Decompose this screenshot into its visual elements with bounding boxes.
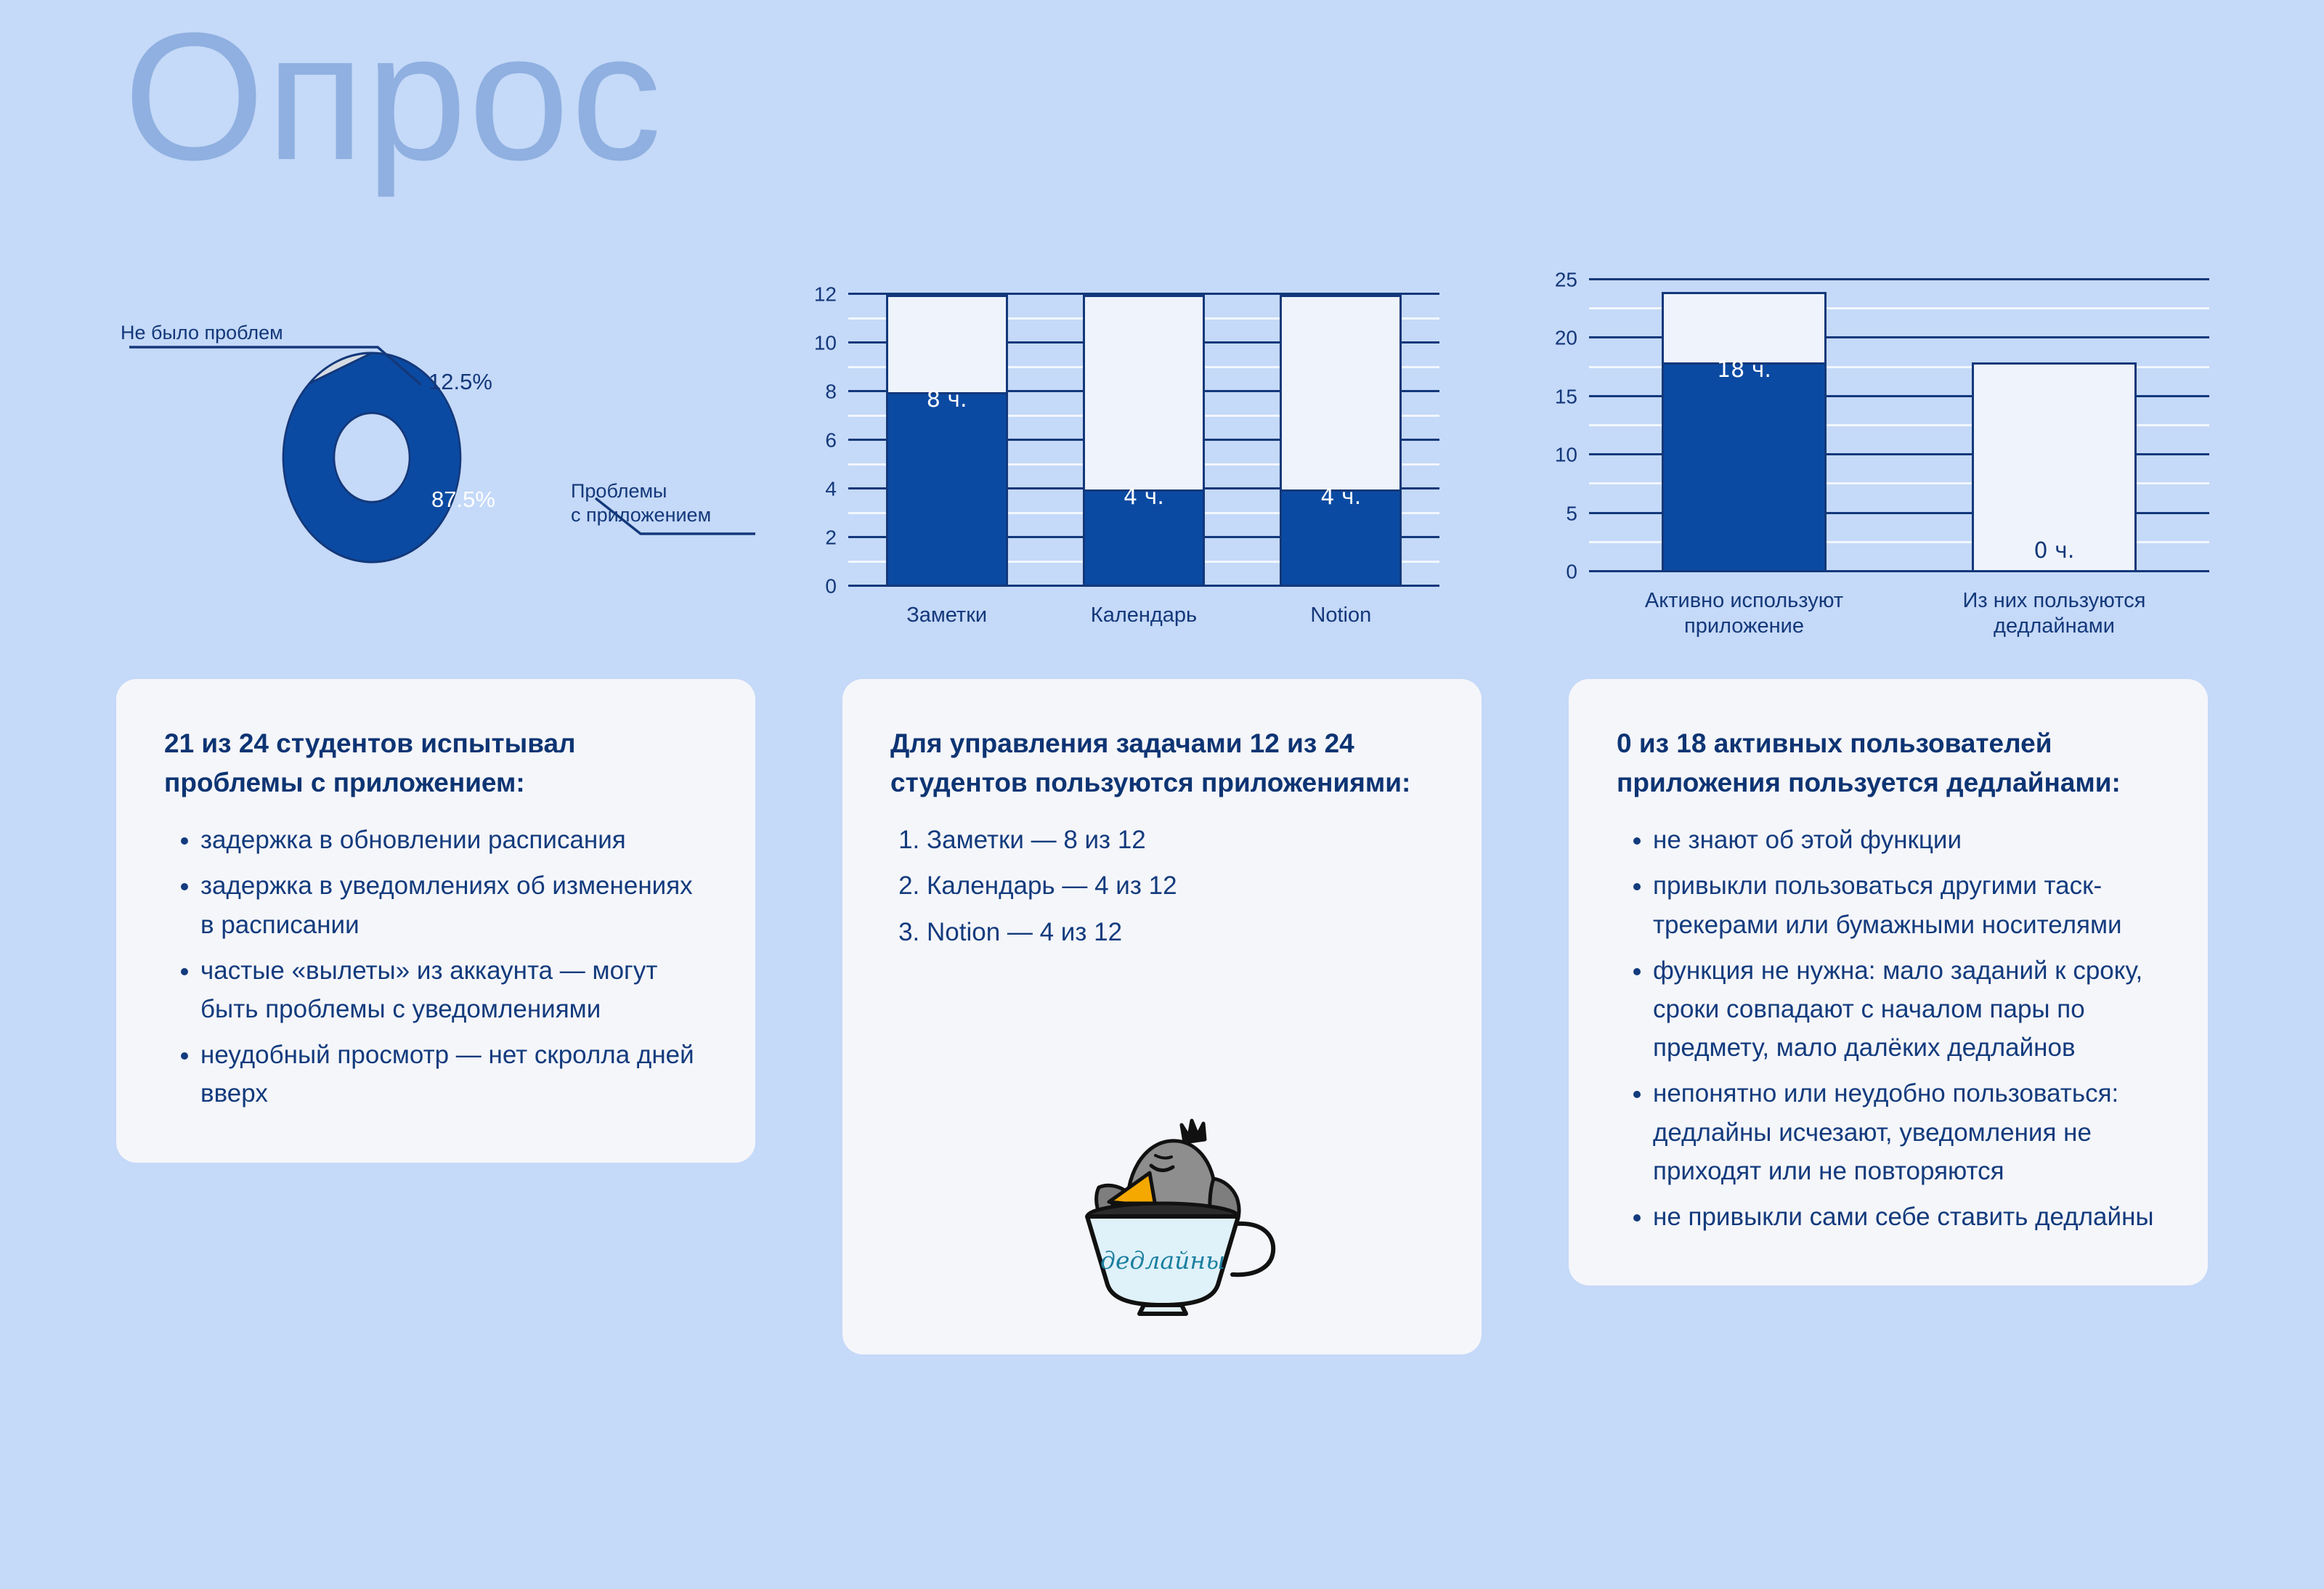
bar-chart-deadlines: 051015202518 ч.Активно используютприложе… <box>1532 261 2215 639</box>
deadlines-ytick: 10 <box>1555 444 1577 467</box>
apps-ytick: 4 <box>825 477 837 500</box>
cup-handle <box>1232 1224 1273 1275</box>
deadlines-bar-label: 0 ч. <box>1972 538 2136 564</box>
apps-bar-group[interactable]: 4 ч.Календарь <box>1083 295 1205 587</box>
bar-chart-apps: 0246810128 ч.Заметки4 ч.Календарь4 ч.Not… <box>792 276 1445 654</box>
list-item: не привыкли сами себе ставить дедлайны <box>1653 1198 2160 1236</box>
deadlines-bar-group[interactable]: 0 ч.Из них пользуютсядедлайнами <box>1972 280 2136 572</box>
list-item: неудобный просмотр — нет скролла дней вв… <box>200 1036 707 1113</box>
deadlines-bar-fill <box>1662 362 1826 572</box>
donut-chart: 12.5% 87.5% Не было проблем Проблемы с п… <box>116 276 755 639</box>
donut-label-no-problems: Не было проблем <box>121 321 283 345</box>
pigeon-crest <box>1182 1121 1205 1142</box>
bar-chart-apps-plot: 0246810128 ч.Заметки4 ч.Календарь4 ч.Not… <box>848 295 1439 587</box>
deadlines-ytick: 5 <box>1566 502 1577 525</box>
deadlines-ytick: 0 <box>1566 560 1577 583</box>
card-apps: Для управления задачами 12 из 24 студент… <box>842 679 1482 1354</box>
apps-bar-group[interactable]: 4 ч.Notion <box>1280 295 1402 587</box>
deadlines-ytick: 20 <box>1555 327 1577 350</box>
deadlines-xtick: Из них пользуютсядедлайнами <box>1943 588 2165 640</box>
deadlines-bar-label: 18 ч. <box>1662 357 1826 383</box>
deadlines-xtick: Активно используютприложение <box>1633 588 1855 640</box>
card-apps-heading: Для управления задачами 12 из 24 студент… <box>890 724 1434 802</box>
bar-chart-deadlines-plot: 051015202518 ч.Активно используютприложе… <box>1589 280 2209 572</box>
apps-ytick: 10 <box>814 331 837 354</box>
donut-value-blue: 87.5% <box>431 487 495 512</box>
apps-ytick: 8 <box>825 380 837 403</box>
cup-foot <box>1139 1305 1186 1314</box>
apps-xtick: Календарь <box>1054 603 1234 628</box>
list-item: привыкли пользоваться другими таск-треке… <box>1653 866 2160 943</box>
apps-bar-fill <box>886 392 1008 587</box>
apps-ytick: 0 <box>825 574 837 598</box>
donut-value-grey: 12.5% <box>428 369 492 394</box>
apps-xtick: Notion <box>1251 603 1431 628</box>
apps-xtick: Заметки <box>857 603 1037 628</box>
page-title: Опрос <box>123 6 663 187</box>
list-item: не знают об этой функции <box>1653 821 2160 859</box>
list-item: задержка в обновлении расписания <box>200 821 707 859</box>
pigeon-in-teacup-illustration: дедлайны <box>1042 1094 1282 1320</box>
apps-bar-label: 4 ч. <box>1280 484 1402 510</box>
list-item: задержка в уведомлениях об изменениях в … <box>200 866 707 943</box>
apps-ytick: 2 <box>825 526 837 549</box>
card-deadlines-heading: 0 из 18 активных пользователей приложени… <box>1617 724 2160 802</box>
list-item: Notion — 4 из 12 <box>927 913 1434 951</box>
apps-bar-group[interactable]: 8 ч.Заметки <box>886 295 1008 587</box>
card-problems-heading: 21 из 24 студентов испытывал проблемы с … <box>164 724 707 802</box>
cup-caption: дедлайны <box>1100 1246 1225 1275</box>
card-problems: 21 из 24 студентов испытывал проблемы с … <box>116 679 755 1163</box>
apps-bar-label: 8 ч. <box>886 387 1008 413</box>
apps-ytick: 12 <box>814 283 837 306</box>
donut-hole <box>334 413 410 503</box>
donut-label-problems: Проблемы с приложением <box>571 479 711 527</box>
apps-bar-label: 4 ч. <box>1083 484 1205 510</box>
list-item: Календарь — 4 из 12 <box>927 866 1434 905</box>
deadlines-ytick: 25 <box>1555 268 1577 291</box>
apps-ytick: 6 <box>825 428 837 452</box>
card-deadlines-list: не знают об этой функции привыкли пользо… <box>1617 821 2160 1236</box>
list-item: Заметки — 8 из 12 <box>927 821 1434 859</box>
list-item: функция не нужна: мало заданий к сроку, … <box>1653 951 2160 1068</box>
list-item: непонятно или неудобно пользоваться: дед… <box>1653 1074 2160 1190</box>
card-deadlines: 0 из 18 активных пользователей приложени… <box>1569 679 2208 1285</box>
deadlines-bar-group[interactable]: 18 ч.Активно используютприложение <box>1662 280 1826 572</box>
list-item: частые «вылеты» из аккаунта — могут быть… <box>200 951 707 1028</box>
card-problems-list: задержка в обновлении расписания задержк… <box>164 821 707 1113</box>
card-apps-list: Заметки — 8 из 12 Календарь — 4 из 12 No… <box>890 821 1434 951</box>
deadlines-ytick: 15 <box>1555 385 1577 408</box>
